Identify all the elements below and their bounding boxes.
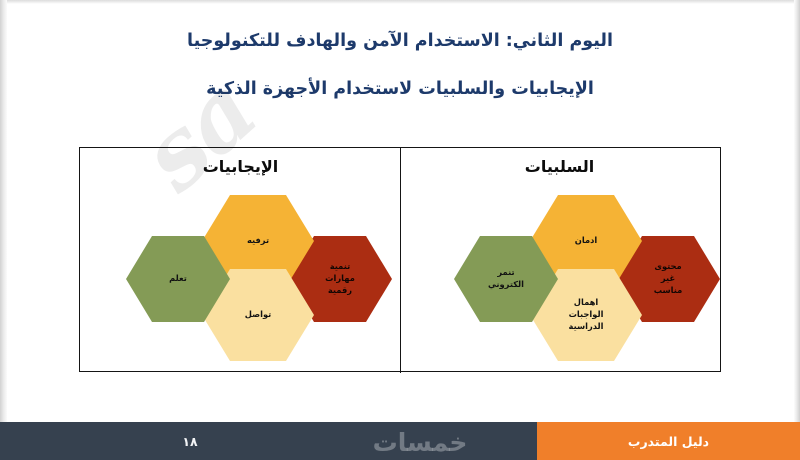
hex-cluster-negatives: محتوى غير مناسب ادمان اهمال الواجبات الد… [399, 191, 720, 366]
slide-title-primary-text: اليوم الثاني: الاستخدام الآمن والهادف لل… [187, 31, 613, 51]
hex-addiction-label: ادمان [569, 235, 603, 247]
page-left-edge [0, 0, 7, 460]
footer-guide-label: دليل المتدرب [537, 422, 800, 460]
hex-entertainment-label: ترفيه [241, 235, 275, 247]
slide-canvas: اليوم الثاني: الاستخدام الآمن والهادف لل… [0, 0, 800, 460]
comparison-panel: السلبيات محتوى غير مناسب ادمان اهمال الو… [79, 147, 721, 372]
slide-footer: ١٨ دليل المتدرب خمسات [0, 422, 800, 460]
hex-cluster-positives: تنمية مهارات رقمية ترفيه تواصل تعلم [80, 191, 401, 366]
hex-homework-neglect-label: اهمال الواجبات الدراسية [563, 297, 610, 332]
hex-inappropriate-content-label: محتوى غير مناسب [648, 261, 689, 296]
column-positives-heading: الإيجابيات [80, 157, 401, 176]
hex-learning-label: تعلم [163, 273, 193, 285]
slide-title-secondary-text: الإيجابيات والسلبيات لاستخدام الأجهزة ال… [206, 79, 594, 99]
page-number: ١٨ [150, 422, 230, 460]
column-negatives: السلبيات محتوى غير مناسب ادمان اهمال الو… [399, 148, 720, 373]
column-positives: الإيجابيات تنمية مهارات رقمية ترفيه تواص… [80, 148, 401, 373]
hex-communication-label: تواصل [239, 309, 278, 321]
slide-title-secondary: الإيجابيات والسلبيات لاستخدام الأجهزة ال… [0, 79, 800, 99]
page-right-edge [794, 0, 800, 460]
hex-digital-skills-label: تنمية مهارات رقمية [319, 261, 361, 296]
hex-cyberbullying-label: تنمر الكتروني [482, 267, 530, 291]
footer-dark-bar [0, 422, 537, 460]
column-negatives-heading: السلبيات [399, 157, 720, 176]
slide-title-primary: اليوم الثاني: الاستخدام الآمن والهادف لل… [0, 31, 800, 51]
page-top-edge [0, 0, 800, 4]
